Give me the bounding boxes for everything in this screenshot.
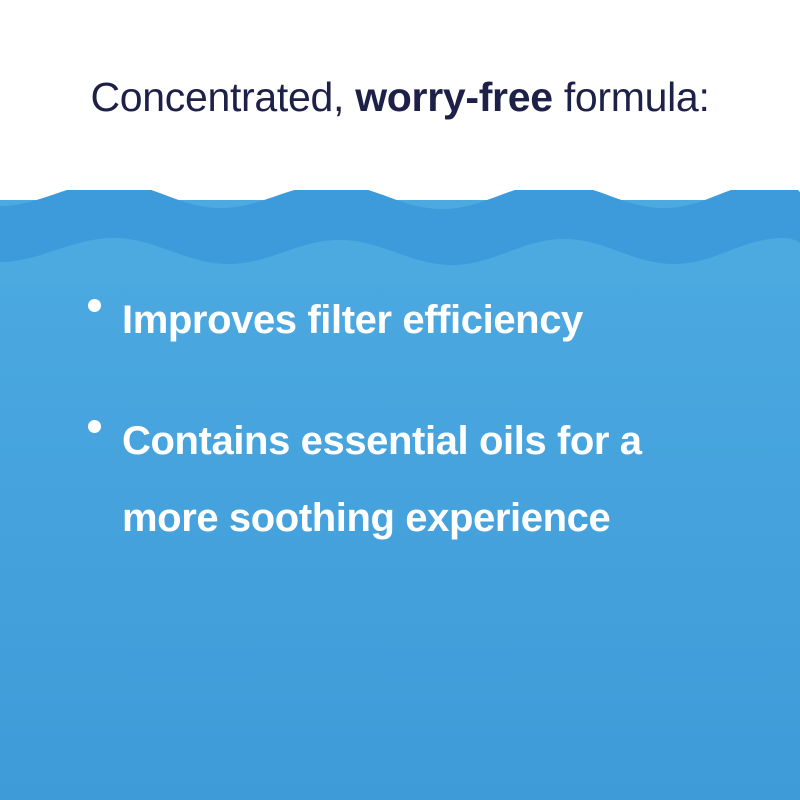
bullet-dot-icon: [88, 299, 101, 312]
heading-suffix: formula:: [553, 74, 710, 120]
page-title: Concentrated, worry-free formula:: [0, 72, 800, 122]
feature-bullet-list: Improves filter efficiency Contains esse…: [88, 282, 728, 557]
list-item: Contains essential oils for a more sooth…: [88, 403, 728, 557]
list-item-label: Improves filter efficiency: [122, 282, 687, 359]
list-item-label: Contains essential oils for a more sooth…: [122, 403, 707, 557]
product-feature-card: Concentrated, worry-free formula: Improv…: [0, 0, 800, 800]
water-wave-divider: [0, 176, 800, 286]
list-item: Improves filter efficiency: [88, 282, 728, 359]
heading-emphasis: worry-free: [355, 74, 553, 120]
heading-prefix: Concentrated,: [90, 74, 355, 120]
bullet-dot-icon: [88, 420, 101, 433]
